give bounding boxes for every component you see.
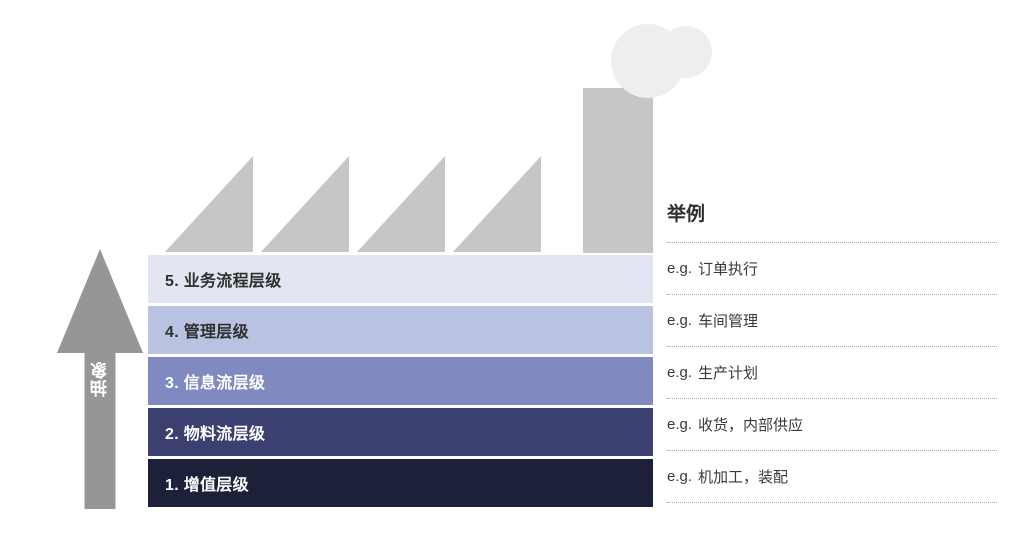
- diagram-canvas: 抽象 5. 业务流程层级 4. 管理层级 3. 信息流层级 2. 物料流层级 1…: [0, 0, 1024, 538]
- layer-bar-2[interactable]: 2. 物料流层级: [148, 408, 653, 456]
- example-row-1: e.g. 机加工，装配: [667, 450, 997, 503]
- example-text-1: 机加工，装配: [698, 466, 788, 487]
- layer-label-1: 1. 增值层级: [148, 471, 249, 495]
- layer-bar-1[interactable]: 1. 增值层级: [148, 459, 653, 507]
- layer-bar-4[interactable]: 4. 管理层级: [148, 306, 653, 354]
- smokestack-icon: [583, 88, 653, 253]
- layer-stack: 5. 业务流程层级 4. 管理层级 3. 信息流层级 2. 物料流层级 1. 增…: [148, 255, 653, 507]
- example-prefix-3: e.g.: [667, 364, 692, 381]
- example-row-2: e.g. 收货，内部供应: [667, 398, 997, 450]
- example-prefix-4: e.g.: [667, 312, 692, 329]
- roof-tooth-icon: [261, 156, 349, 252]
- example-row-3: e.g. 生产计划: [667, 346, 997, 398]
- smoke-puff-icon: [660, 26, 712, 78]
- example-text-5: 订单执行: [698, 258, 758, 279]
- example-prefix-1: e.g.: [667, 468, 692, 485]
- layer-bar-3[interactable]: 3. 信息流层级: [148, 357, 653, 405]
- roof-tooth-icon: [453, 156, 541, 252]
- roof-tooth-icon: [357, 156, 445, 252]
- layer-bar-5[interactable]: 5. 业务流程层级: [148, 255, 653, 303]
- examples-header: 举例: [667, 196, 997, 242]
- example-row-4: e.g. 车间管理: [667, 294, 997, 346]
- roof-tooth-icon: [165, 156, 253, 252]
- example-prefix-2: e.g.: [667, 416, 692, 433]
- factory-sawtooth-roof: [165, 156, 555, 252]
- example-text-3: 生产计划: [698, 362, 758, 383]
- example-text-2: 收货，内部供应: [698, 414, 803, 435]
- layer-label-2: 2. 物料流层级: [148, 420, 265, 444]
- example-row-5: e.g. 订单执行: [667, 242, 997, 294]
- layer-label-4: 4. 管理层级: [148, 318, 249, 342]
- abstraction-arrow-icon: [57, 249, 143, 509]
- layer-label-3: 3. 信息流层级: [148, 369, 265, 393]
- example-text-4: 车间管理: [698, 310, 758, 331]
- examples-column: 举例 e.g. 订单执行 e.g. 车间管理 e.g. 生产计划 e.g. 收货…: [667, 196, 997, 503]
- layer-label-5: 5. 业务流程层级: [148, 267, 282, 291]
- example-prefix-5: e.g.: [667, 260, 692, 277]
